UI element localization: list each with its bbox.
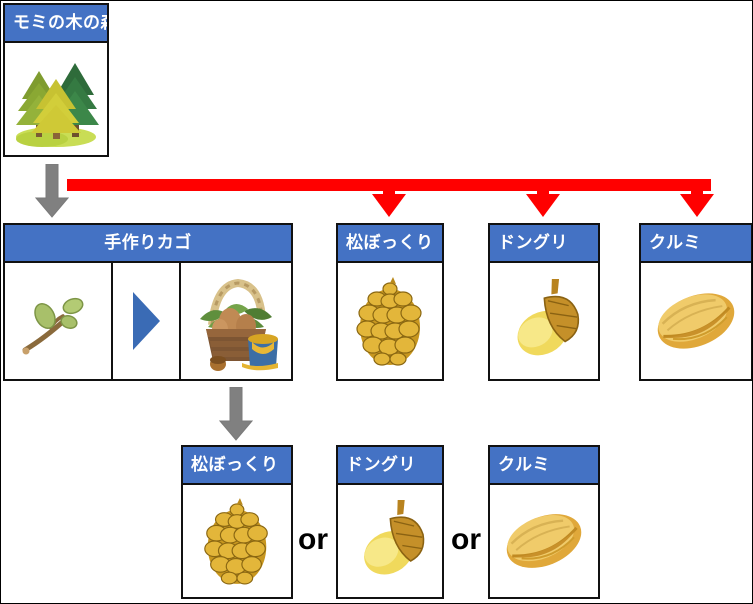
card-title-acorn-row3: ドングリ bbox=[338, 447, 442, 485]
recipe-arrow-cell bbox=[113, 263, 181, 379]
card-title-fir-tree-forest: モミの木の森 bbox=[5, 5, 107, 43]
separator-or-2: or bbox=[451, 523, 481, 557]
twig-branch-icon bbox=[15, 278, 101, 364]
card-walnut-row2[interactable]: クルミ bbox=[639, 223, 753, 381]
card-pine-cone-row3[interactable]: 松ぼっくり bbox=[181, 445, 293, 599]
card-body-pine-cone-row2 bbox=[338, 263, 442, 379]
card-body-acorn-row2 bbox=[490, 263, 598, 379]
card-pine-cone-row2[interactable]: 松ぼっくり bbox=[336, 223, 444, 381]
diagram-canvas: モミの木の森 bbox=[0, 0, 753, 604]
card-title-handmade-basket: 手作りカゴ bbox=[5, 225, 291, 263]
card-body-acorn-row3 bbox=[338, 485, 442, 597]
red-down-arrow-walnut-icon bbox=[680, 194, 714, 218]
recipe-output-cell bbox=[181, 263, 291, 379]
separator-or-1: or bbox=[298, 523, 328, 557]
gray-down-arrow-forest-icon bbox=[35, 164, 69, 218]
card-title-acorn-row2: ドングリ bbox=[490, 225, 598, 263]
card-body-walnut-row2 bbox=[641, 263, 751, 379]
gray-down-arrow-basket-icon bbox=[219, 387, 253, 441]
red-down-arrow-acorn-icon bbox=[526, 194, 560, 218]
card-handmade-basket[interactable]: 手作りカゴ bbox=[3, 223, 293, 381]
card-title-walnut-row2: クルミ bbox=[641, 225, 751, 263]
card-title-walnut-row3: クルミ bbox=[490, 447, 598, 485]
card-walnut-row3[interactable]: クルミ bbox=[488, 445, 600, 599]
card-acorn-row3[interactable]: ドングリ bbox=[336, 445, 444, 599]
acorn-icon bbox=[344, 500, 436, 582]
handmade-basket-icon bbox=[186, 269, 286, 373]
pine-cone-icon bbox=[197, 496, 277, 586]
card-fir-tree-forest[interactable]: モミの木の森 bbox=[3, 3, 109, 157]
fir-tree-forest-icon bbox=[8, 49, 104, 149]
card-body-handmade-basket bbox=[5, 263, 291, 379]
recipe-input-cell bbox=[5, 263, 113, 379]
card-title-pine-cone-row3: 松ぼっくり bbox=[183, 447, 291, 485]
card-body-fir-tree-forest bbox=[5, 43, 107, 155]
pine-cone-icon bbox=[349, 275, 431, 367]
walnut-icon bbox=[497, 504, 591, 578]
acorn-icon bbox=[497, 279, 591, 363]
card-body-pine-cone-row3 bbox=[183, 485, 291, 597]
card-title-pine-cone-row2: 松ぼっくり bbox=[338, 225, 442, 263]
red-down-arrow-pine-icon bbox=[372, 194, 406, 218]
card-acorn-row2[interactable]: ドングリ bbox=[488, 223, 600, 381]
blue-triangle-right-icon bbox=[133, 292, 160, 350]
walnut-icon bbox=[648, 283, 744, 359]
card-body-walnut-row3 bbox=[490, 485, 598, 597]
